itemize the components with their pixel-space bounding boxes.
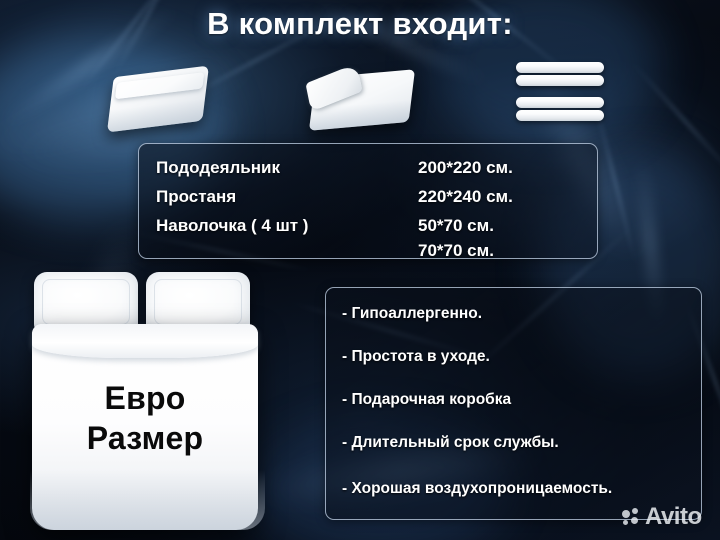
feature-item: - Хорошая воздухопроницаемость.: [342, 480, 612, 498]
page-title: В комплект входит:: [0, 6, 720, 42]
product-poster: В комплект входит: Евро Размер Пододеяль…: [0, 0, 720, 540]
spec-item-value: 200*220 см.: [418, 158, 513, 178]
feature-item: - Подарочная коробка: [342, 391, 511, 409]
features-panel: - Гипоаллергенно. - Простота в уходе. - …: [325, 287, 702, 520]
spec-item-value: 220*240 см.: [418, 187, 513, 207]
spec-item-value: 50*70 см.: [418, 216, 494, 236]
spec-item-name: Простаня: [156, 187, 236, 207]
spec-item-name: Пододеяльник: [156, 158, 280, 178]
feature-item: - Простота в уходе.: [342, 348, 490, 366]
spec-item-value-secondary: 70*70 см.: [418, 241, 494, 261]
specifications-panel: Пододеяльник 200*220 см. Простаня 220*24…: [138, 143, 598, 259]
rolled-pillowcase-icon: [516, 97, 604, 108]
rolled-pillowcase-icon: [516, 62, 604, 73]
rolled-pillowcase-icon: [516, 75, 604, 86]
feature-item: - Длительный срок службы.: [342, 434, 559, 452]
spec-item-name: Наволочка ( 4 шт ): [156, 216, 308, 236]
feature-item: - Гипоаллергенно.: [342, 305, 482, 323]
rolled-pillowcase-icon: [516, 110, 604, 121]
